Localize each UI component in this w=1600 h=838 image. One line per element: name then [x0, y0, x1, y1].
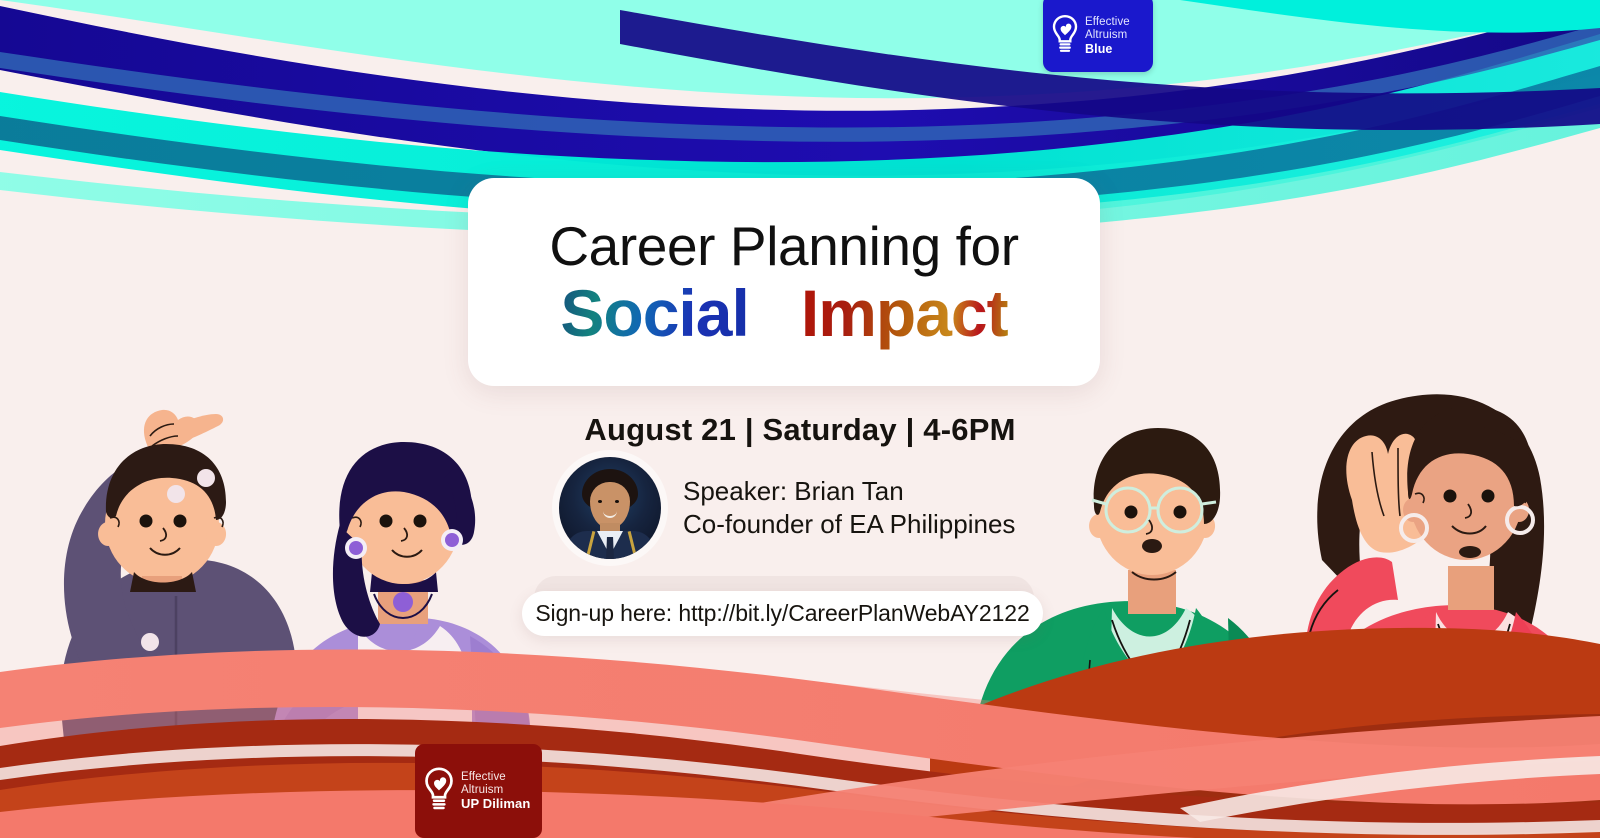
title-line-2: Social Impact — [560, 280, 1007, 346]
signup-link-text[interactable]: Sign-up here: http://bit.ly/CareerPlanWe… — [535, 600, 1029, 627]
title-line-1: Career Planning for — [549, 219, 1018, 274]
lightbulb-heart-icon — [422, 764, 456, 819]
title-card: Career Planning for Social Impact — [468, 178, 1100, 386]
badge-line-3: UP Diliman — [461, 797, 530, 812]
badge-line-1: Effective — [1085, 16, 1130, 29]
speaker-name: Speaker: Brian Tan — [683, 475, 1015, 508]
headshot-eye-left — [598, 500, 602, 503]
event-poster: Effective Altruism Blue Career Planning … — [0, 0, 1600, 838]
headshot-eye-right — [615, 500, 619, 503]
speaker-text: Speaker: Brian Tan Co-founder of EA Phil… — [683, 475, 1015, 542]
ea-up-diliman-logo-badge[interactable]: Effective Altruism UP Diliman — [415, 744, 542, 838]
title-word-social: Social — [560, 276, 748, 350]
headshot-face — [590, 482, 630, 528]
headshot-tie — [606, 537, 614, 559]
lightbulb-heart-icon — [1050, 13, 1080, 60]
badge-line-3: Blue — [1085, 42, 1130, 56]
speaker-headshot — [559, 457, 661, 559]
title-word-impact: Impact — [801, 276, 1008, 350]
event-date-line: August 21 | Saturday | 4-6PM — [0, 412, 1600, 448]
badge-line-2: Altruism — [461, 784, 530, 797]
signup-pill[interactable]: Sign-up here: http://bit.ly/CareerPlanWe… — [522, 591, 1043, 636]
ea-blue-logo-badge[interactable]: Effective Altruism Blue — [1043, 0, 1153, 72]
speaker-block: Speaker: Brian Tan Co-founder of EA Phil… — [559, 457, 1015, 559]
speaker-role: Co-founder of EA Philippines — [683, 508, 1015, 541]
badge-line-2: Altruism — [1085, 29, 1130, 42]
badge-line-1: Effective — [461, 771, 530, 784]
